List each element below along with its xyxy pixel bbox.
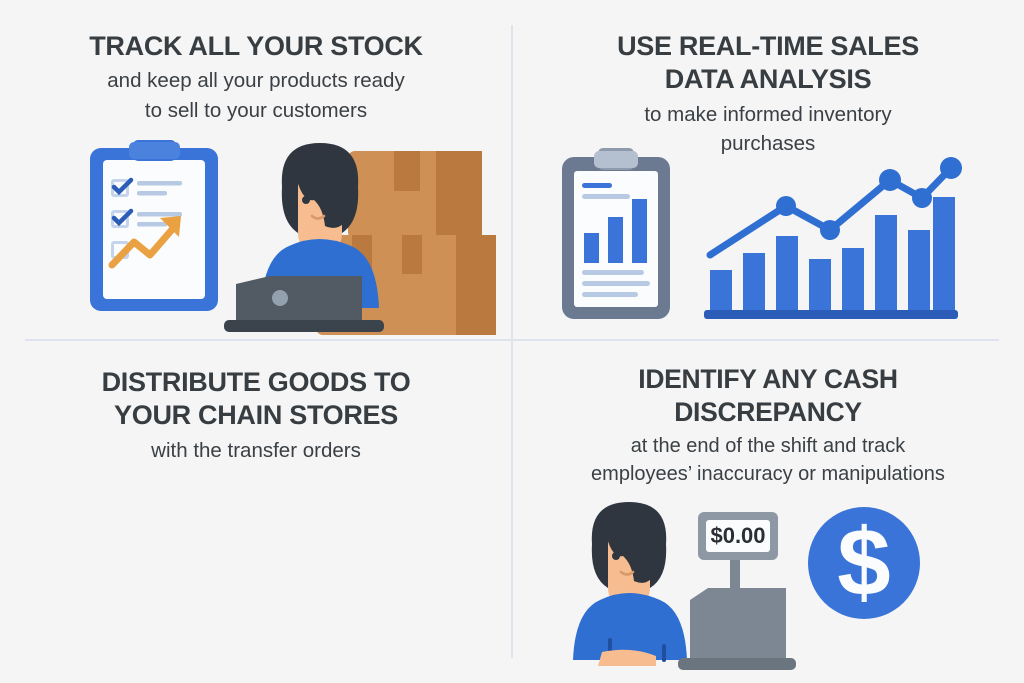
- panel-1-heading: TRACK ALL YOUR STOCK: [18, 30, 494, 63]
- cashier-illustration: $0.00: [550, 494, 800, 672]
- panel-use-real-time-sales-data-analysis: USE REAL-TIME SALES DATA ANALYSIS to mak…: [512, 0, 1024, 341]
- panel-1-subtitle: and keep all your products ready to sell…: [18, 66, 494, 124]
- dollar-sign-icon: $: [837, 509, 890, 616]
- cash-register-icon: $0.00: [678, 512, 796, 670]
- chart-axis-baseline: [704, 310, 958, 319]
- panel-identify-any-cash-discrepancy: IDENTIFY ANY CASH DISCREPANCY at the end…: [512, 341, 1024, 682]
- register-display-value: $0.00: [710, 523, 765, 548]
- chart-bars: [710, 197, 955, 310]
- panel-distribute-goods-to-your-chain-stores: DISTRIBUTE GOODS TO YOUR CHAIN STORES wi…: [0, 341, 512, 682]
- panel-3-subtitle: with the transfer orders: [18, 436, 494, 465]
- panel-4-heading: IDENTIFY ANY CASH DISCREPANCY: [530, 363, 1006, 429]
- panel-4-subtitle: at the end of the shift and track employ…: [530, 432, 1006, 489]
- panel-2-heading: USE REAL-TIME SALES DATA ANALYSIS: [530, 30, 1006, 97]
- panel-track-all-your-stock: TRACK ALL YOUR STOCK and keep all your p…: [0, 0, 512, 341]
- infographic-root: TRACK ALL YOUR STOCK and keep all your p…: [0, 0, 1024, 683]
- cashier-figure: [573, 502, 687, 666]
- clipboard-checklist-illustration: [84, 138, 504, 338]
- growth-chart-illustration: [702, 160, 962, 330]
- dollar-coin-illustration: $: [804, 503, 924, 623]
- report-clipboard-illustration: [554, 145, 684, 325]
- laptop-icon: [224, 276, 384, 332]
- panel-4-text-block: IDENTIFY ANY CASH DISCREPANCY at the end…: [512, 363, 1024, 489]
- panel-1-text-block: TRACK ALL YOUR STOCK and keep all your p…: [0, 30, 512, 125]
- panel-2-text-block: USE REAL-TIME SALES DATA ANALYSIS to mak…: [512, 30, 1024, 158]
- panel-3-heading: DISTRIBUTE GOODS TO YOUR CHAIN STORES: [18, 366, 494, 433]
- panel-3-text-block: DISTRIBUTE GOODS TO YOUR CHAIN STORES wi…: [0, 366, 512, 465]
